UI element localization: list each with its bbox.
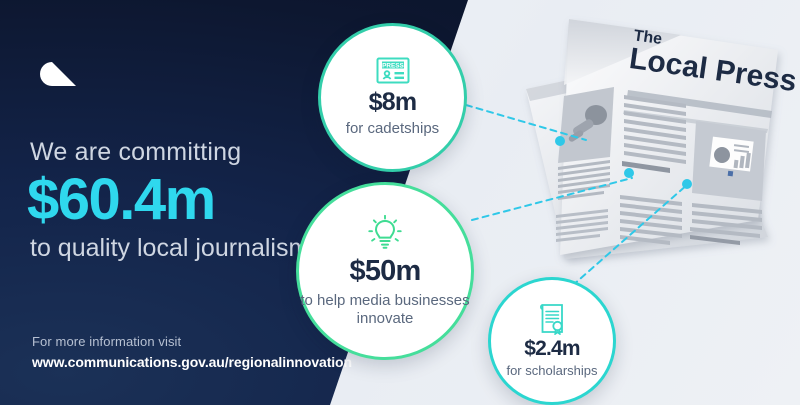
newspaper-illustration: The Local Press xyxy=(500,5,800,270)
bubble-caption: to help media businesses innovate xyxy=(299,292,471,327)
bubble-amount: $50m xyxy=(350,255,421,288)
footer-block: For more information visit www.communica… xyxy=(32,334,362,370)
stat-bubble-scholarships[interactable]: $2.4m for scholarships xyxy=(488,277,616,405)
press-badge-label: PRESS xyxy=(382,63,404,70)
infographic-canvas: The Local Press xyxy=(0,0,800,405)
headline-trail: to quality local journalism xyxy=(30,233,330,263)
press-badge-icon: PRESS xyxy=(376,57,410,84)
lightbulb-icon xyxy=(367,215,403,251)
headline-amount: $60.4m xyxy=(27,170,330,229)
footer-prompt: For more information visit xyxy=(32,334,362,349)
brand-logo xyxy=(40,62,76,86)
logo-half-circle-shape xyxy=(40,62,52,86)
newspaper-svg: The Local Press xyxy=(500,5,800,270)
bubble-caption: for cadetships xyxy=(346,120,439,137)
logo-triangle-shape xyxy=(52,62,76,86)
bubble-amount: $2.4m xyxy=(524,337,580,361)
stat-bubble-cadetships[interactable]: PRESS $8m for cadetships xyxy=(318,23,467,172)
certificate-icon xyxy=(538,303,567,335)
footer-url[interactable]: www.communications.gov.au/regionalinnova… xyxy=(32,354,362,370)
stat-bubble-innovate[interactable]: $50m to help media businesses innovate xyxy=(296,182,474,360)
headline-block: We are committing $60.4m to quality loca… xyxy=(30,138,330,263)
headline-lead: We are committing xyxy=(30,138,330,167)
bubble-amount: $8m xyxy=(369,88,417,117)
bubble-caption: for scholarships xyxy=(506,363,597,378)
